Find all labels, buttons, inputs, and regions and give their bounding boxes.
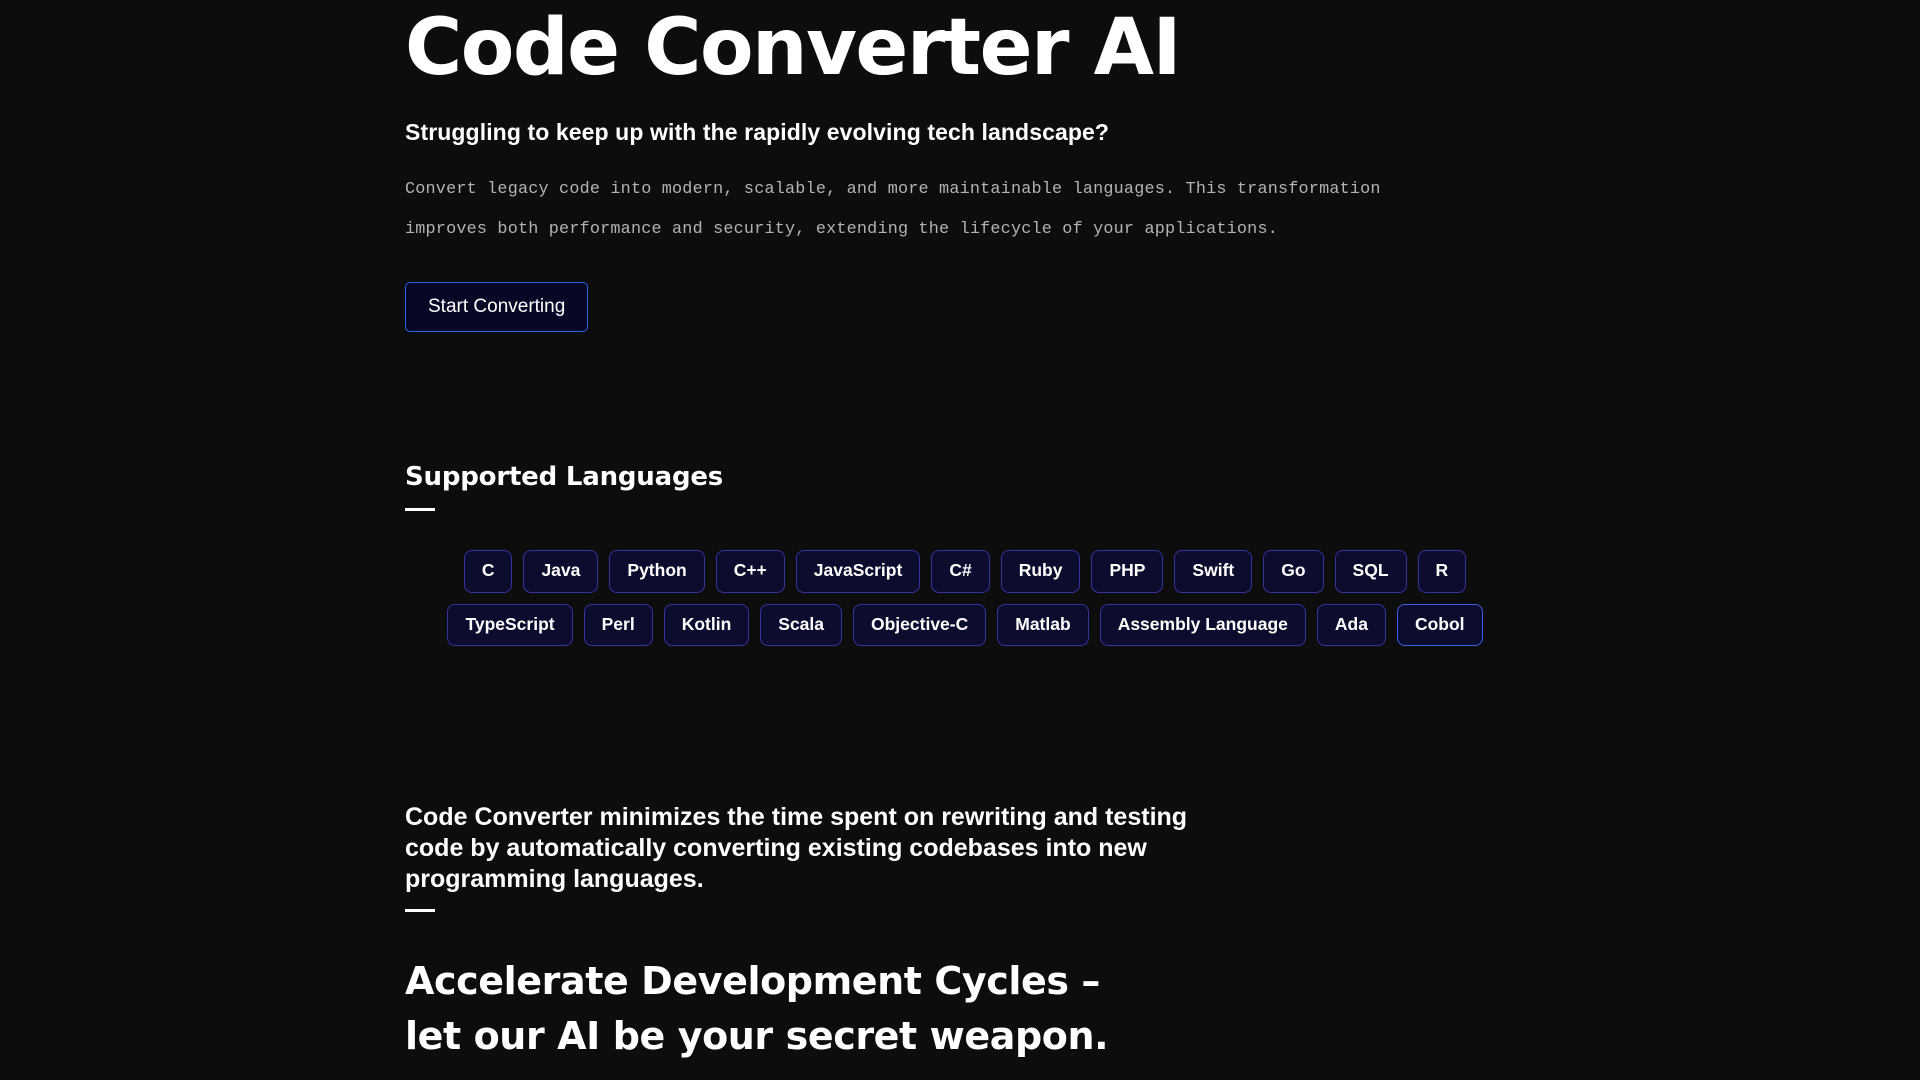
supported-languages-heading: Supported Languages (405, 462, 1525, 492)
hero-cta-wrapper: Start Converting (405, 282, 1465, 332)
supported-languages-section: Supported Languages CJavaPythonC++JavaSc… (405, 462, 1525, 646)
language-chip[interactable]: Java (523, 550, 598, 593)
language-chip[interactable]: Objective-C (853, 604, 986, 647)
language-chip[interactable]: TypeScript (447, 604, 572, 647)
value-proposition-section: Code Converter minimizes the time spent … (405, 802, 1235, 1064)
value-underline-rule (405, 909, 435, 912)
hero-section: Code Converter AI Struggling to keep up … (405, 0, 1465, 332)
hero-description: Convert legacy code into modern, scalabl… (405, 170, 1465, 250)
heading-underline-rule (405, 508, 435, 511)
language-chip[interactable]: Go (1263, 550, 1323, 593)
language-chip[interactable]: Assembly Language (1100, 604, 1306, 647)
language-chip[interactable]: PHP (1091, 550, 1163, 593)
language-chip[interactable]: Swift (1174, 550, 1252, 593)
start-converting-button[interactable]: Start Converting (405, 282, 588, 332)
language-chip[interactable]: Perl (584, 604, 653, 647)
language-chip[interactable]: Scala (760, 604, 842, 647)
language-chip[interactable]: Kotlin (664, 604, 750, 647)
language-chip[interactable]: C++ (716, 550, 785, 593)
language-chip[interactable]: Ada (1317, 604, 1386, 647)
language-chip[interactable]: SQL (1335, 550, 1407, 593)
language-chip-list: CJavaPythonC++JavaScriptC#RubyPHPSwiftGo… (405, 550, 1525, 646)
code-converter-landing-page: Code Converter AI Struggling to keep up … (0, 0, 1920, 1080)
language-chip[interactable]: Matlab (997, 604, 1088, 647)
language-chip[interactable]: C# (931, 550, 989, 593)
language-chip[interactable]: Python (609, 550, 704, 593)
page-title: Code Converter AI (405, 9, 1465, 87)
language-chip[interactable]: Cobol (1397, 604, 1483, 647)
hero-subtitle: Struggling to keep up with the rapidly e… (405, 119, 1465, 146)
language-chip[interactable]: Ruby (1001, 550, 1081, 593)
closing-headline: Accelerate Development Cycles – let our … (405, 954, 1235, 1064)
language-chip[interactable]: C (464, 550, 513, 593)
value-proposition-paragraph: Code Converter minimizes the time spent … (405, 802, 1220, 895)
language-chip[interactable]: JavaScript (796, 550, 921, 593)
language-chip[interactable]: R (1418, 550, 1467, 593)
